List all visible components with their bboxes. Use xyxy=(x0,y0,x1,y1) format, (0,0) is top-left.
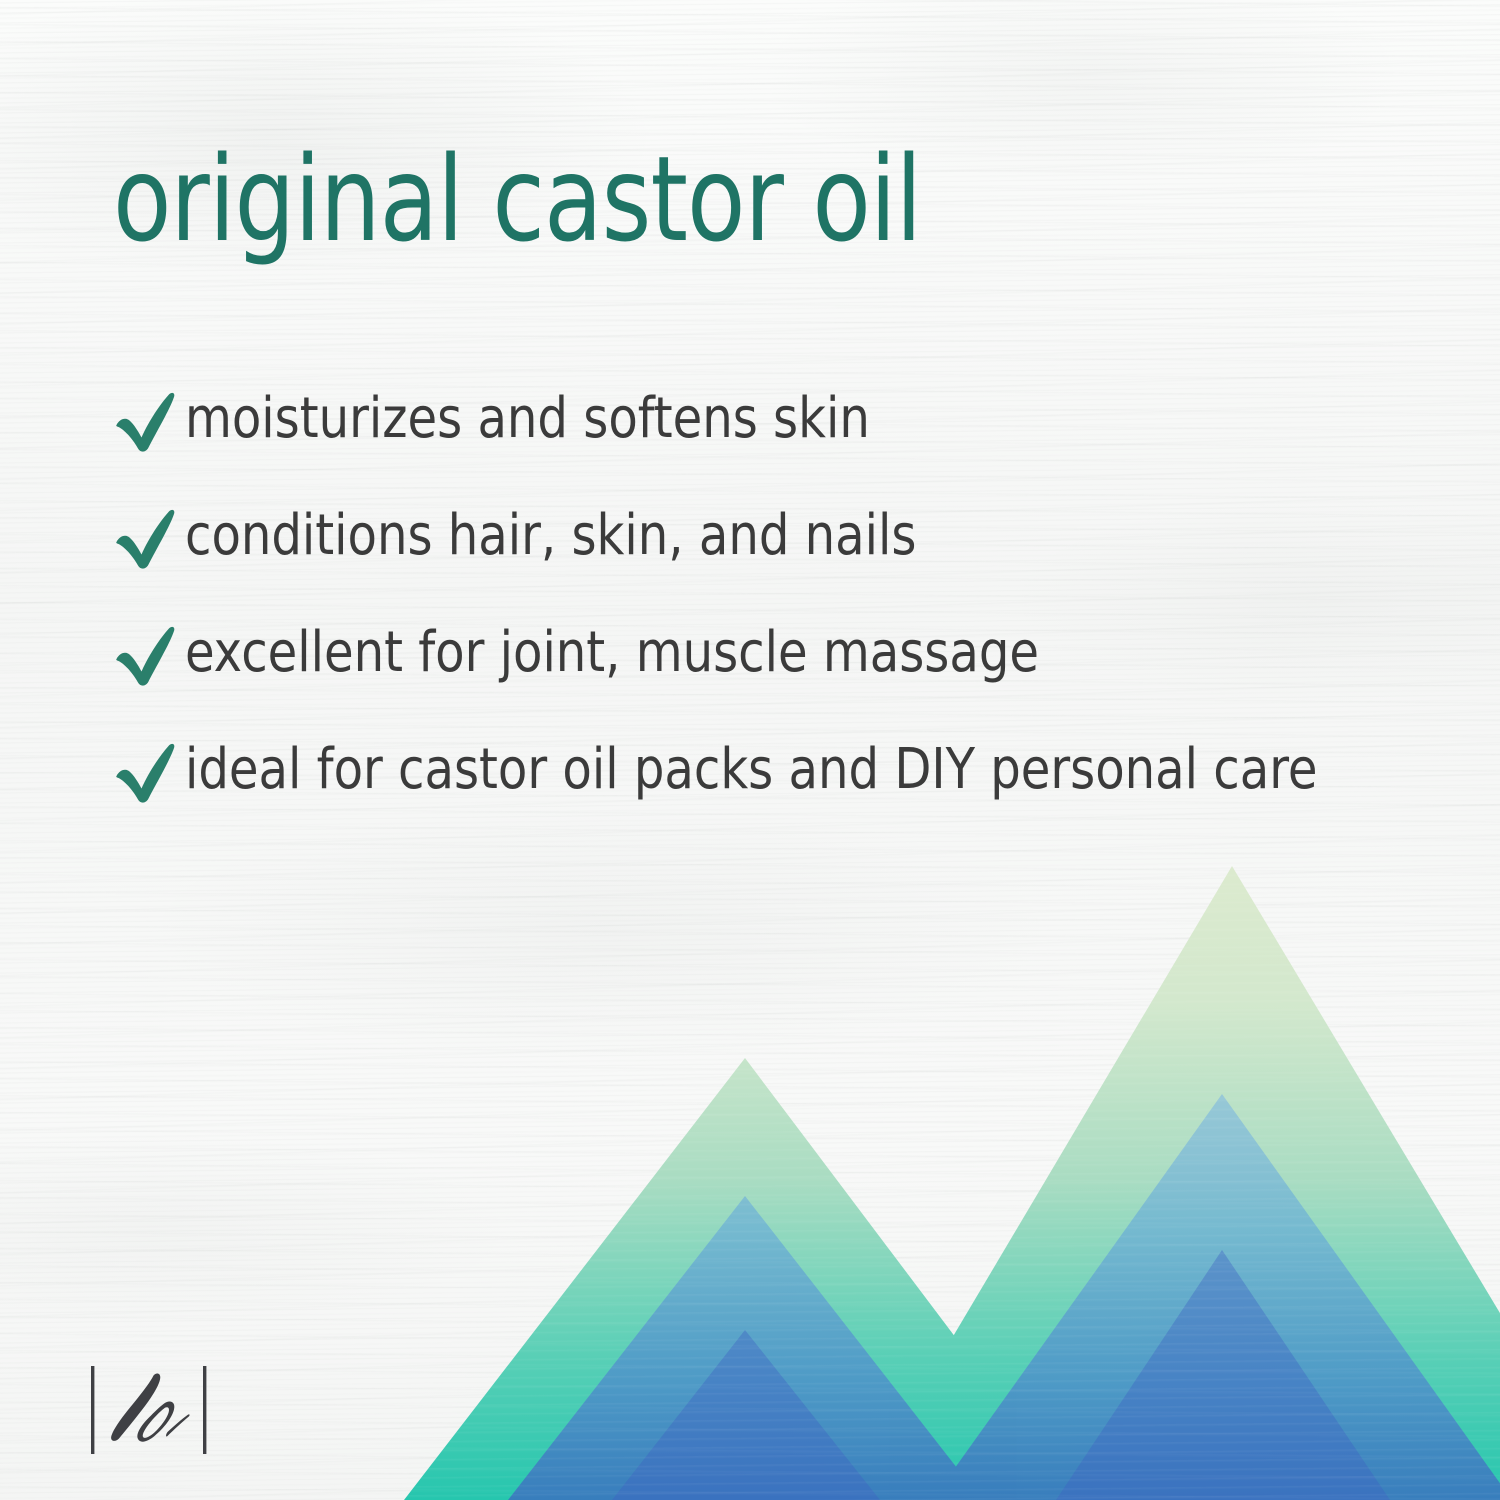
list-item-label: moisturizes and softens skin xyxy=(185,384,870,450)
list-item-label: excellent for joint, muscle massage xyxy=(185,618,1039,684)
logo-rule-right xyxy=(203,1366,206,1454)
brand-logo xyxy=(86,1360,212,1460)
check-icon xyxy=(113,624,185,690)
list-item-label: conditions hair, skin, and nails xyxy=(185,501,916,567)
list-item: ideal for castor oil packs and DIY perso… xyxy=(113,735,1453,852)
check-icon xyxy=(113,741,185,807)
check-icon xyxy=(113,390,185,456)
list-item: conditions hair, skin, and nails xyxy=(113,501,1453,618)
product-feature-card: original castor oil moisturizes and soft… xyxy=(0,0,1500,1500)
list-item: excellent for joint, muscle massage xyxy=(113,618,1453,735)
list-item: moisturizes and softens skin xyxy=(113,384,1453,501)
page-title: original castor oil xyxy=(113,140,921,258)
script-h-icon xyxy=(111,1374,189,1442)
logo-rule-left xyxy=(91,1366,94,1454)
feature-list: moisturizes and softens skin conditions … xyxy=(113,384,1453,852)
check-icon xyxy=(113,507,185,573)
list-item-label: ideal for castor oil packs and DIY perso… xyxy=(185,735,1317,801)
